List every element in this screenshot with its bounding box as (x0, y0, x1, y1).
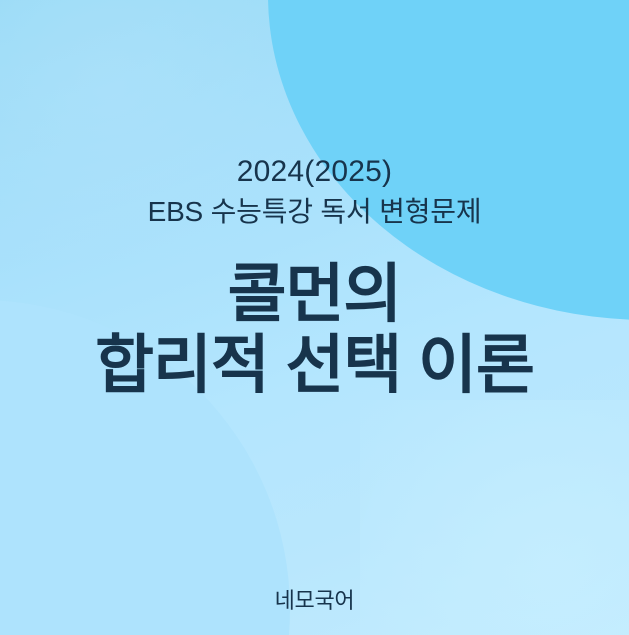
poster-subtitle-group: 2024(2025) EBS 수능특강 독서 변형문제 (148, 157, 482, 226)
poster-subtitle-series: EBS 수능특강 독서 변형문제 (148, 198, 482, 226)
page-title-line-1: 콜먼의 (95, 259, 534, 330)
page-title-line-2: 합리적 선택 이론 (95, 330, 534, 401)
page-title: 콜먼의 합리적 선택 이론 (95, 259, 534, 401)
poster-subtitle-year: 2024(2025) (148, 157, 482, 187)
poster-content: 2024(2025) EBS 수능특강 독서 변형문제 콜먼의 합리적 선택 이… (0, 0, 629, 635)
poster-card: 2024(2025) EBS 수능특강 독서 변형문제 콜먼의 합리적 선택 이… (0, 0, 629, 635)
